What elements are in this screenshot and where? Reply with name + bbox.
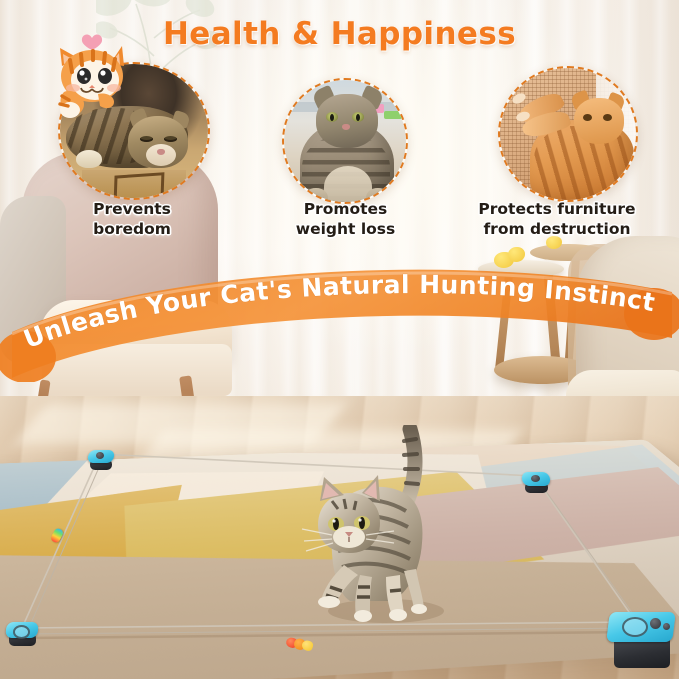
caption-line-1: Promotes [253,200,438,220]
corner-pulley-upper-right[interactable] [522,472,550,493]
benefit-photo-promotes-weight-loss [282,78,408,204]
walking-tabby-cat [300,425,460,640]
caption-line-2: from destruction [440,220,674,240]
benefit-caption-promotes-weight-loss: Promotes weight loss [253,200,438,240]
caption-line-2: weight loss [253,220,438,240]
caption-line-1: Protects furniture [440,200,674,220]
ribbon-headline: Unleash Your Cat's Natural Hunting Insti… [20,270,658,354]
corner-pulley-lower-left[interactable] [6,622,38,646]
ribbon-shape: Unleash Your Cat's Natural Hunting Insti… [0,262,679,382]
hero-ribbon-banner: Unleash Your Cat's Natural Hunting Insti… [0,262,679,382]
main-drive-unit[interactable] [608,612,674,668]
caption-line-2: boredom [32,220,232,240]
page-title: Health & Happiness [0,16,679,52]
corner-pulley-upper-left[interactable] [88,450,114,470]
benefit-photo-protects-furniture [498,66,638,202]
benefit-caption-prevents-boredom: Prevents boredom [32,200,232,240]
product-banner: Health & Happiness Prevents boredom Prom… [0,0,679,679]
benefit-caption-protects-furniture: Protects furniture from destruction [440,200,674,240]
ribbon-headline-textpath: Unleash Your Cat's Natural Hunting Insti… [20,270,658,354]
caption-line-1: Prevents [32,200,232,220]
